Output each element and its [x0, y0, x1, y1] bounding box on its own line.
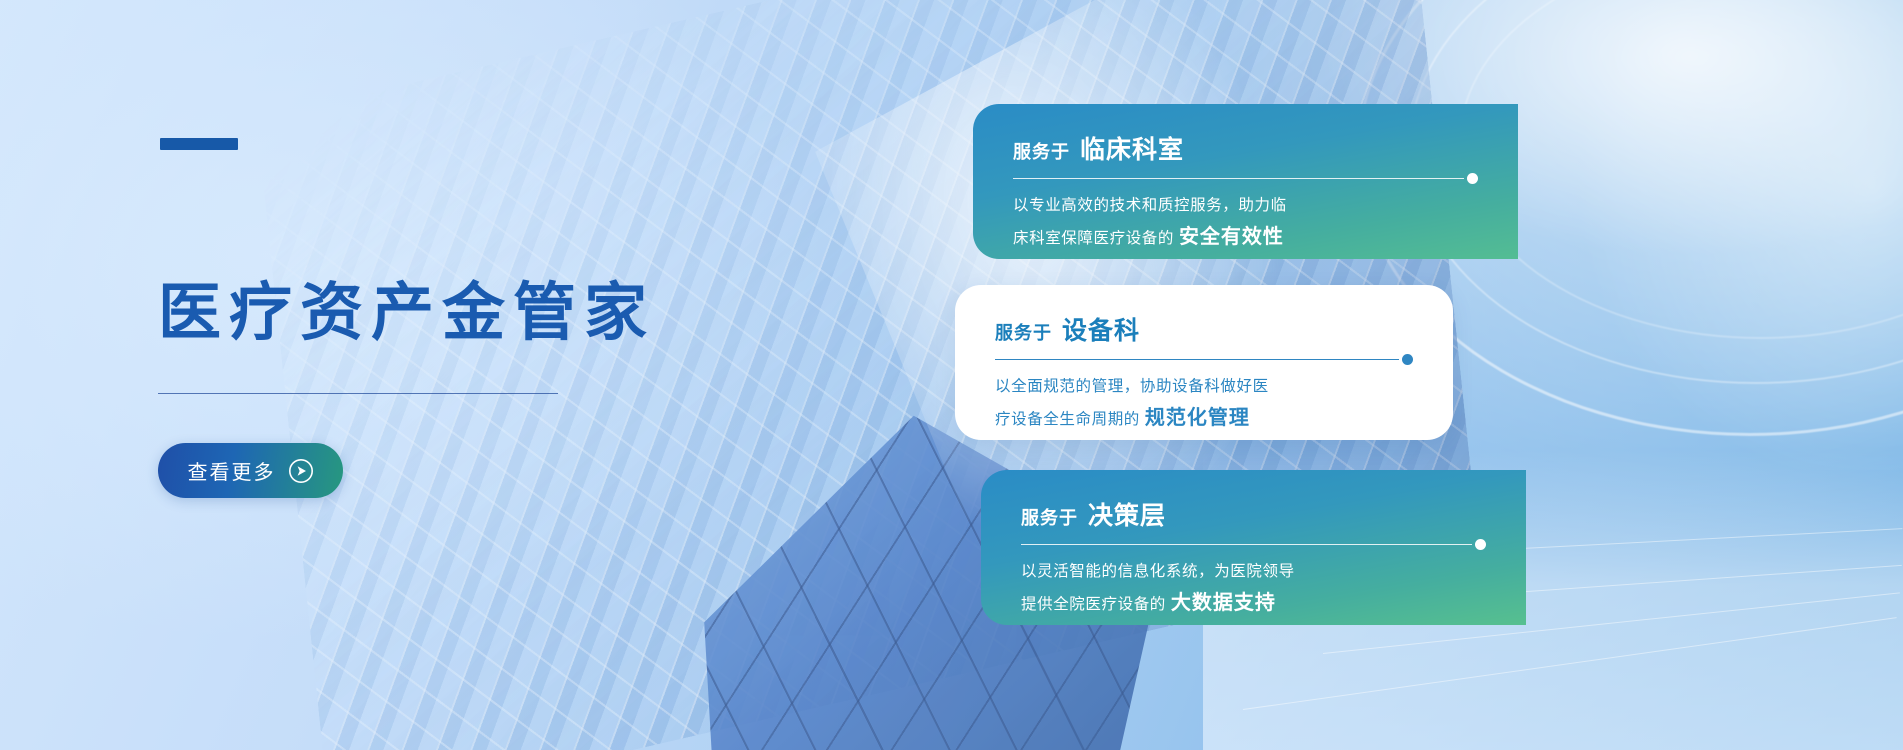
card-description-highlight: 大数据支持: [1171, 592, 1276, 614]
card-rule-dot: [1467, 173, 1478, 184]
card-description: 以灵活智能的信息化系统，为医院领导 提供全院医疗设备的 大数据支持: [1021, 559, 1486, 620]
card-description: 以专业高效的技术和质控服务，助力临 床科室保障医疗设备的 安全有效性: [1013, 193, 1478, 254]
card-header: 服务于 决策层: [1021, 496, 1486, 532]
card-rule: [1021, 544, 1486, 545]
card-description-lead: 床科室保障医疗设备的: [1013, 230, 1174, 247]
card-description-line1: 以灵活智能的信息化系统，为医院领导: [1021, 559, 1486, 586]
service-card-clinical[interactable]: 服务于 临床科室 以专业高效的技术和质控服务，助力临 床科室保障医疗设备的 安全…: [973, 104, 1518, 259]
page-title: 医疗资产金管家: [158, 280, 655, 346]
card-description-line2: 疗设备全生命周期的 规范化管理: [995, 401, 1413, 435]
service-card-decision[interactable]: 服务于 决策层 以灵活智能的信息化系统，为医院领导 提供全院医疗设备的 大数据支…: [981, 470, 1526, 625]
card-description-highlight: 安全有效性: [1179, 226, 1284, 248]
hero-left-column: 医疗资产金管家 查看更多: [158, 0, 778, 750]
card-prefix-label: 服务于: [1021, 504, 1078, 530]
card-rule-line: [1021, 544, 1472, 545]
hero-divider: [158, 393, 558, 394]
card-description-lead: 疗设备全生命周期的: [995, 411, 1140, 428]
card-rule-line: [1013, 178, 1464, 179]
card-rule-dot: [1475, 539, 1486, 550]
card-rule: [995, 359, 1413, 360]
card-description: 以全面规范的管理，协助设备科做好医 疗设备全生命周期的 规范化管理: [995, 374, 1413, 435]
card-target-label: 临床科室: [1080, 130, 1184, 166]
accent-bar: [160, 138, 238, 150]
card-description-line1: 以专业高效的技术和质控服务，助力临: [1013, 193, 1478, 220]
card-target-label: 决策层: [1088, 496, 1166, 532]
card-rule: [1013, 178, 1478, 179]
card-description-lead: 提供全院医疗设备的: [1021, 596, 1166, 613]
card-header: 服务于 设备科: [995, 311, 1413, 347]
card-rule-line: [995, 359, 1399, 360]
card-description-line2: 床科室保障医疗设备的 安全有效性: [1013, 220, 1478, 254]
card-prefix-label: 服务于: [995, 319, 1052, 345]
card-description-line2: 提供全院医疗设备的 大数据支持: [1021, 586, 1486, 620]
view-more-button[interactable]: 查看更多: [158, 443, 343, 498]
arrow-right-circle-icon: [288, 458, 314, 484]
card-description-line1: 以全面规范的管理，协助设备科做好医: [995, 374, 1413, 401]
card-prefix-label: 服务于: [1013, 138, 1070, 164]
card-description-highlight: 规范化管理: [1145, 407, 1250, 429]
card-target-label: 设备科: [1062, 311, 1140, 347]
view-more-label: 查看更多: [188, 456, 276, 485]
service-card-equipment[interactable]: 服务于 设备科 以全面规范的管理，协助设备科做好医 疗设备全生命周期的 规范化管…: [955, 285, 1453, 440]
hero-banner: 医疗资产金管家 查看更多 服务于 临床科室 以专业高效的技术和质控服务，助力临: [0, 0, 1903, 750]
card-rule-dot: [1402, 354, 1413, 365]
card-header: 服务于 临床科室: [1013, 130, 1478, 166]
service-cards: 服务于 临床科室 以专业高效的技术和质控服务，助力临 床科室保障医疗设备的 安全…: [973, 0, 1903, 750]
